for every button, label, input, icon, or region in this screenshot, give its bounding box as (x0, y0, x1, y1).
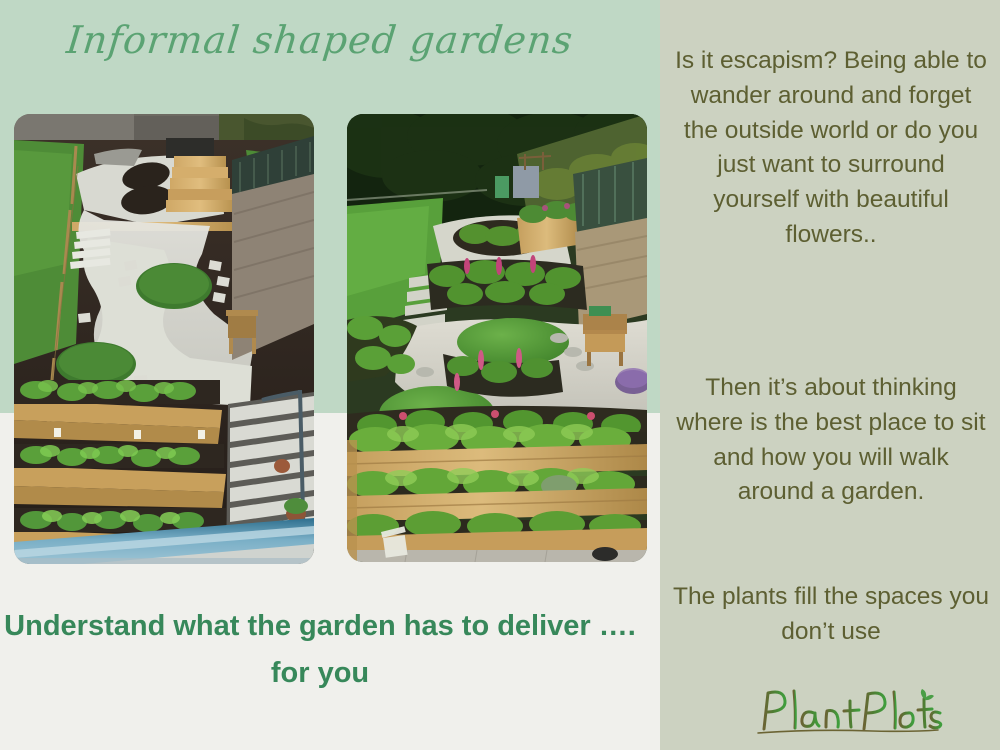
right-paragraph-2: Then it’s about thinking where is the be… (672, 371, 990, 510)
right-paragraph-3: The plants fill the spaces you don’t use (672, 580, 990, 650)
photo-left-illustration (14, 114, 314, 564)
slide-root: Informal shaped gardens (0, 0, 1000, 750)
photo-right-illustration (347, 114, 647, 562)
photo-garden-under-construction (14, 114, 314, 564)
plantplots-logo-mark (752, 683, 947, 739)
plantplots-logo[interactable] (752, 683, 947, 739)
photo-garden-completed-planted (347, 114, 647, 562)
caption-text: Understand what the garden has to delive… (0, 603, 640, 697)
page-title: Informal shaped gardens (0, 18, 642, 62)
right-paragraph-1: Is it escapism? Being able to wander aro… (672, 44, 990, 253)
